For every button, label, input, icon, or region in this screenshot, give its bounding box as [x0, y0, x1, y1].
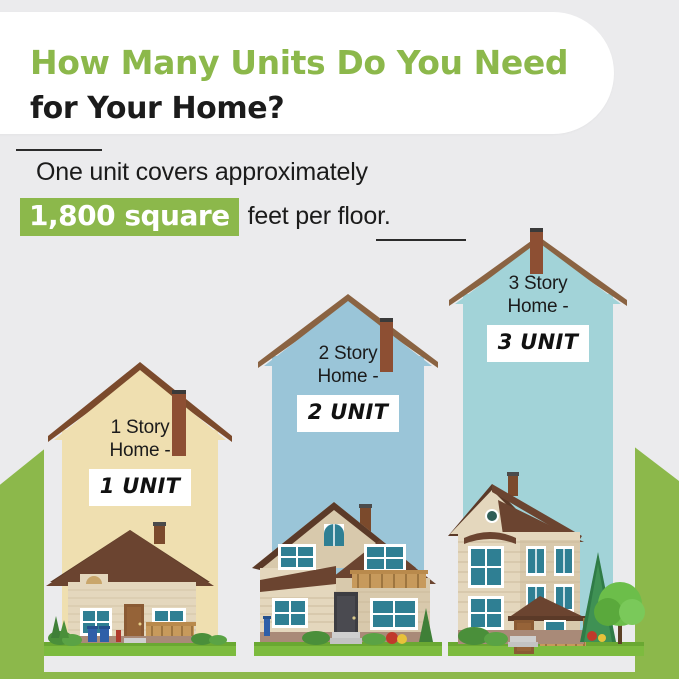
chimney-icon: [530, 228, 543, 274]
title-card: How Many Units Do You Need for Your Home…: [0, 12, 614, 134]
silhouette-label-two-story: 2 Story Home - 2 UNIT: [272, 342, 424, 432]
house-illustration-two-story: [252, 492, 444, 658]
infographic-canvas: 1 Story Home - 1 UNIT 2 Story Home - 2 U…: [0, 0, 679, 679]
subtitle-line-1: One unit covers approximately: [36, 158, 368, 187]
page-title-line-1: How Many Units Do You Need: [30, 46, 568, 79]
page-title-line-2: for Your Home?: [30, 94, 284, 124]
highlight-square-footage: 1,800 square: [20, 198, 239, 236]
unit-badge: 2 UNIT: [297, 395, 400, 432]
label-line-2: Home -: [463, 295, 613, 318]
unit-badge: 3 UNIT: [487, 325, 590, 362]
silhouette-label-one-story: 1 Story Home - 1 UNIT: [62, 416, 218, 506]
label-line-1: 1 Story: [62, 416, 218, 439]
subtitle-tail: feet per floor.: [248, 202, 391, 231]
unit-badge: 1 UNIT: [89, 469, 192, 506]
divider-bottom: [376, 239, 466, 241]
subtitle-line-2: 1,800 square feet per floor.: [20, 198, 391, 235]
label-line-2: Home -: [62, 439, 218, 462]
label-line-1: 2 Story: [272, 342, 424, 365]
house-illustration-one-story: [42, 516, 238, 658]
divider-top: [16, 149, 102, 151]
silhouette-label-three-story: 3 Story Home - 3 UNIT: [463, 272, 613, 362]
label-line-1: 3 Story: [463, 272, 613, 295]
label-line-2: Home -: [272, 365, 424, 388]
house-illustration-three-story: [446, 470, 646, 658]
